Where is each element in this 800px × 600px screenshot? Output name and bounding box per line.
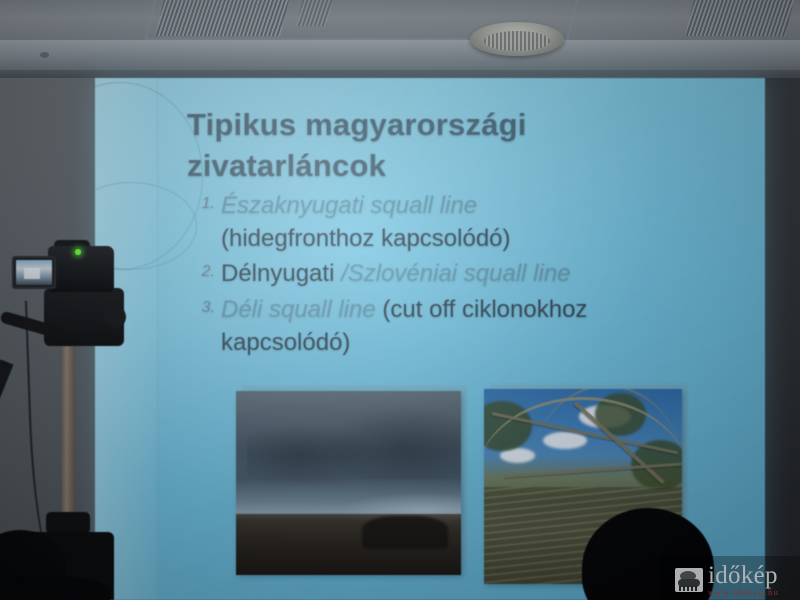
cloud-wisp	[322, 406, 462, 480]
list-item-text: Déli squall line (cut off ciklonokhoz ka…	[221, 294, 741, 359]
watermark-url: www.idokep.hu	[708, 589, 779, 597]
slide-divider-line	[157, 78, 158, 600]
list-item-emphasis: Északnyugati squall line	[221, 192, 477, 219]
watermark-brand: időkép	[708, 563, 779, 588]
ceiling	[0, 0, 800, 78]
cloud-icon	[675, 568, 703, 592]
storm-shelf-cloud-photo	[236, 391, 461, 575]
tripod-collar	[46, 512, 90, 534]
list-item-text: Délnyugati /Szlovéniai squall line	[221, 258, 741, 291]
list-item: 1. Északnyugati squall line (hidegfronth…	[191, 190, 741, 255]
rain-rays	[679, 586, 699, 591]
slide-title: Tipikus magyarországi zivatarláncok	[187, 104, 707, 186]
list-item-lead: Délnyugati	[221, 260, 341, 287]
list-item-emphasis: /Szlovéniai squall line	[341, 260, 570, 287]
ceiling-vent-grille-right	[685, 0, 795, 36]
foreground-bush	[362, 516, 448, 549]
list-item-number: 1.	[191, 193, 215, 215]
wall-panel-right	[764, 52, 800, 600]
list-item-subline: (hidegfronthoz kapcsolódó)	[221, 225, 511, 252]
list-item-subline: kapcsolódó)	[221, 329, 350, 356]
watermark-text: időkép www.idokep.hu	[708, 563, 779, 597]
ceiling-beam	[0, 40, 800, 70]
ceiling-fixture-dot	[40, 52, 49, 58]
slide-bullet-list: 1. Északnyugati squall line (hidegfronth…	[191, 190, 741, 362]
camcorder-lcd-screen	[12, 256, 56, 289]
smoke-detector-icon	[470, 22, 564, 56]
record-led-icon	[75, 249, 81, 255]
watermark: időkép www.idokep.hu	[672, 563, 799, 597]
camcorder-body	[48, 246, 114, 292]
list-item: 3. Déli squall line (cut off ciklonokhoz…	[191, 294, 741, 359]
list-item-emphasis: Déli squall line	[221, 296, 376, 323]
list-item-number: 2.	[191, 261, 215, 283]
ceiling-vent-grille	[155, 0, 290, 36]
list-item-tail: (cut off ciklonokhoz	[376, 296, 588, 323]
tripod-adjust-knob	[104, 306, 126, 328]
list-item: 2. Délnyugati /Szlovéniai squall line	[191, 258, 741, 291]
presentation-photo-scene: Tipikus magyarországi zivatarláncok 1. É…	[0, 0, 800, 600]
lcd-preview-image	[16, 260, 52, 285]
list-item-number: 3.	[191, 297, 215, 319]
list-item-text: Északnyugati squall line (hidegfronthoz …	[221, 190, 741, 255]
